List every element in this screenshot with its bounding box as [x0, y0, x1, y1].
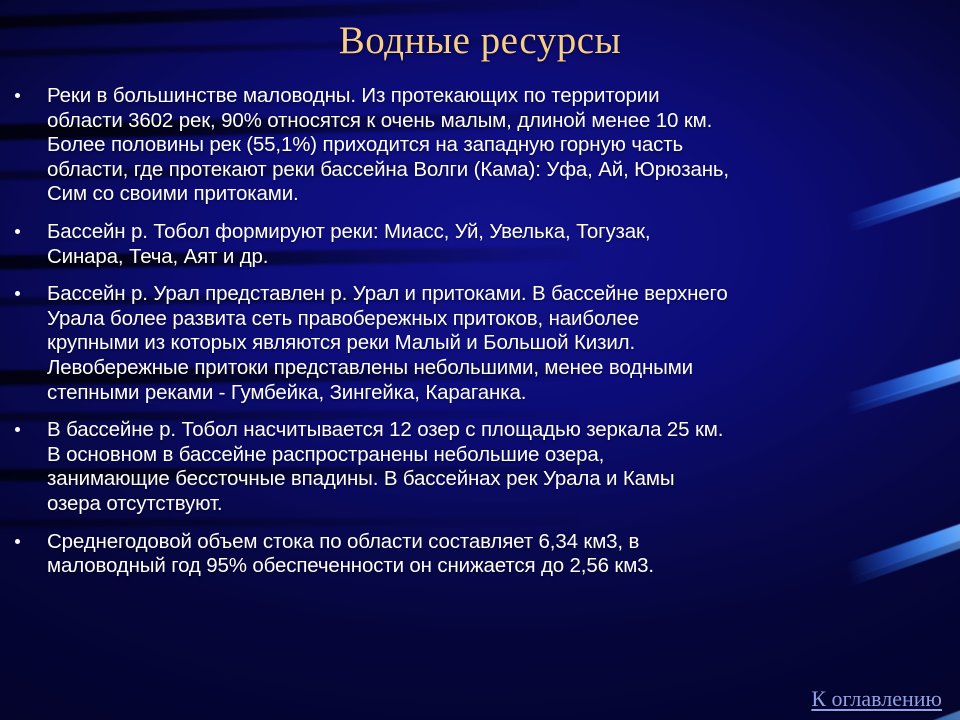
bullet-dot-icon — [15, 93, 20, 98]
list-item: Среднегодовой объем стока по области сос… — [10, 530, 954, 579]
bullet-list: Реки в большинстве маловодны. Из протека… — [10, 84, 954, 579]
list-item: Бассейн р. Тобол формируют реки: Миасс, … — [10, 220, 954, 269]
bullet-dot-icon — [15, 427, 20, 432]
list-item: Реки в большинстве маловодны. Из протека… — [10, 84, 954, 207]
back-to-contents-link[interactable]: К оглавлению — [811, 686, 942, 712]
list-item-text: Бассейн р. Тобол формируют реки: Миасс, … — [47, 220, 954, 269]
bullet-dot-icon — [15, 291, 20, 296]
slide-content: Водные ресурсы Реки в большинстве малово… — [0, 0, 960, 720]
bullet-dot-icon — [15, 229, 20, 234]
list-item-text: Бассейн р. Урал представлен р. Урал и пр… — [47, 282, 954, 405]
presentation-slide: Водные ресурсы Реки в большинстве малово… — [0, 0, 960, 720]
list-item: Бассейн р. Урал представлен р. Урал и пр… — [10, 282, 954, 405]
list-item-text: Среднегодовой объем стока по области сос… — [47, 530, 954, 579]
list-item: В бассейне р. Тобол насчитывается 12 озе… — [10, 418, 954, 516]
bullet-dot-icon — [15, 539, 20, 544]
slide-title: Водные ресурсы — [0, 18, 960, 64]
list-item-text: В бассейне р. Тобол насчитывается 12 озе… — [47, 418, 954, 516]
list-item-text: Реки в большинстве маловодны. Из протека… — [47, 84, 954, 207]
